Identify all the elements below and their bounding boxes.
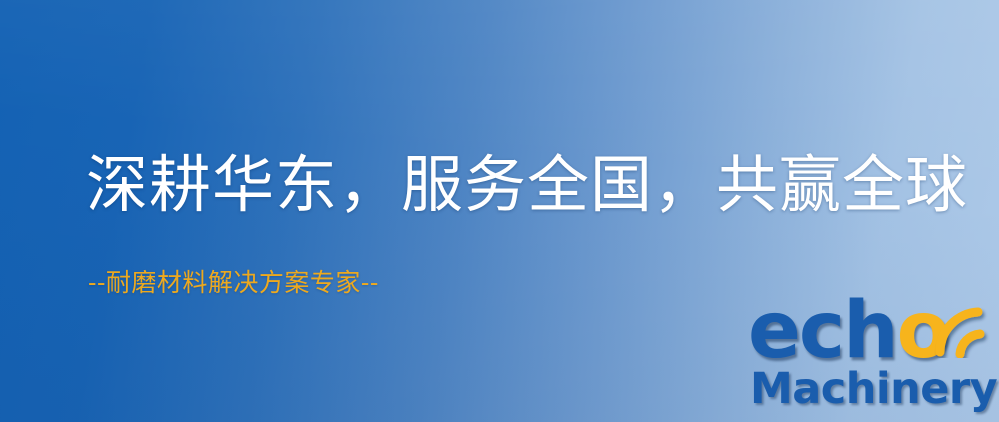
logo-tagline: Machinery® [750, 368, 999, 411]
logo-tagline-text: Machinery [750, 364, 997, 414]
subtitle-text: --耐磨材料解决方案专家-- [88, 268, 379, 298]
echo-machinery-logo[interactable]: echo Machinery® [748, 292, 999, 422]
signal-arcs-icon [930, 290, 999, 358]
hero-banner: 深耕华东，服务全国，共赢全球 --耐磨材料解决方案专家-- echo Machi… [0, 0, 999, 422]
logo-wordmark: echo [748, 292, 948, 370]
headline-text: 深耕华东，服务全国，共赢全球 [86, 152, 968, 217]
logo-wordmark-primary: ech [748, 286, 897, 376]
